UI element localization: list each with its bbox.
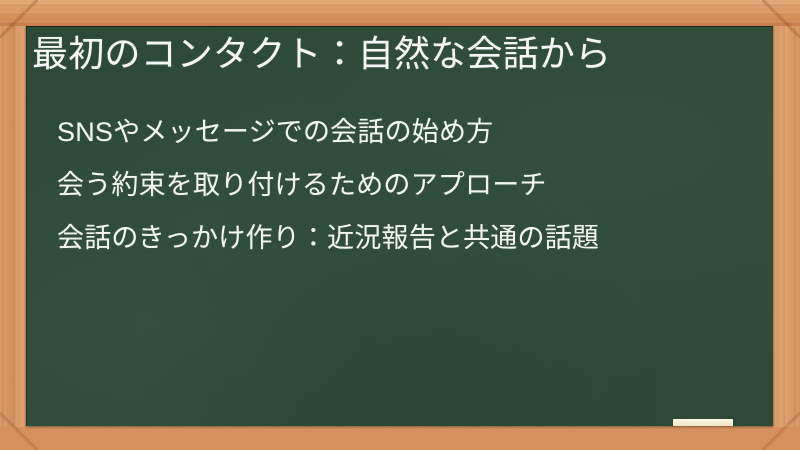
bullet-list: SNSやメッセージでの会話の始め方 会う約束を取り付けるためのアプローチ 会話の… [57,106,757,265]
bullet-item: SNSやメッセージでの会話の始め方 [57,106,757,159]
bullet-item: 会話のきっかけ作り：近況報告と共通の話題 [57,212,757,265]
board-content: 最初のコンタクト：自然な会話から SNSやメッセージでの会話の始め方 会う約束を… [26,26,773,426]
slide-title: 最初のコンタクト：自然な会話から [32,30,611,78]
chalk-ledge [0,427,800,450]
chalkboard-surface: 最初のコンタクト：自然な会話から SNSやメッセージでの会話の始め方 会う約束を… [26,26,773,426]
bullet-item: 会う約束を取り付けるためのアプローチ [57,159,757,212]
wooden-frame-top-rail [0,0,800,26]
chalkboard-slide: 最初のコンタクト：自然な会話から SNSやメッセージでの会話の始め方 会う約束を… [0,0,800,450]
chalk-stick [673,419,733,426]
